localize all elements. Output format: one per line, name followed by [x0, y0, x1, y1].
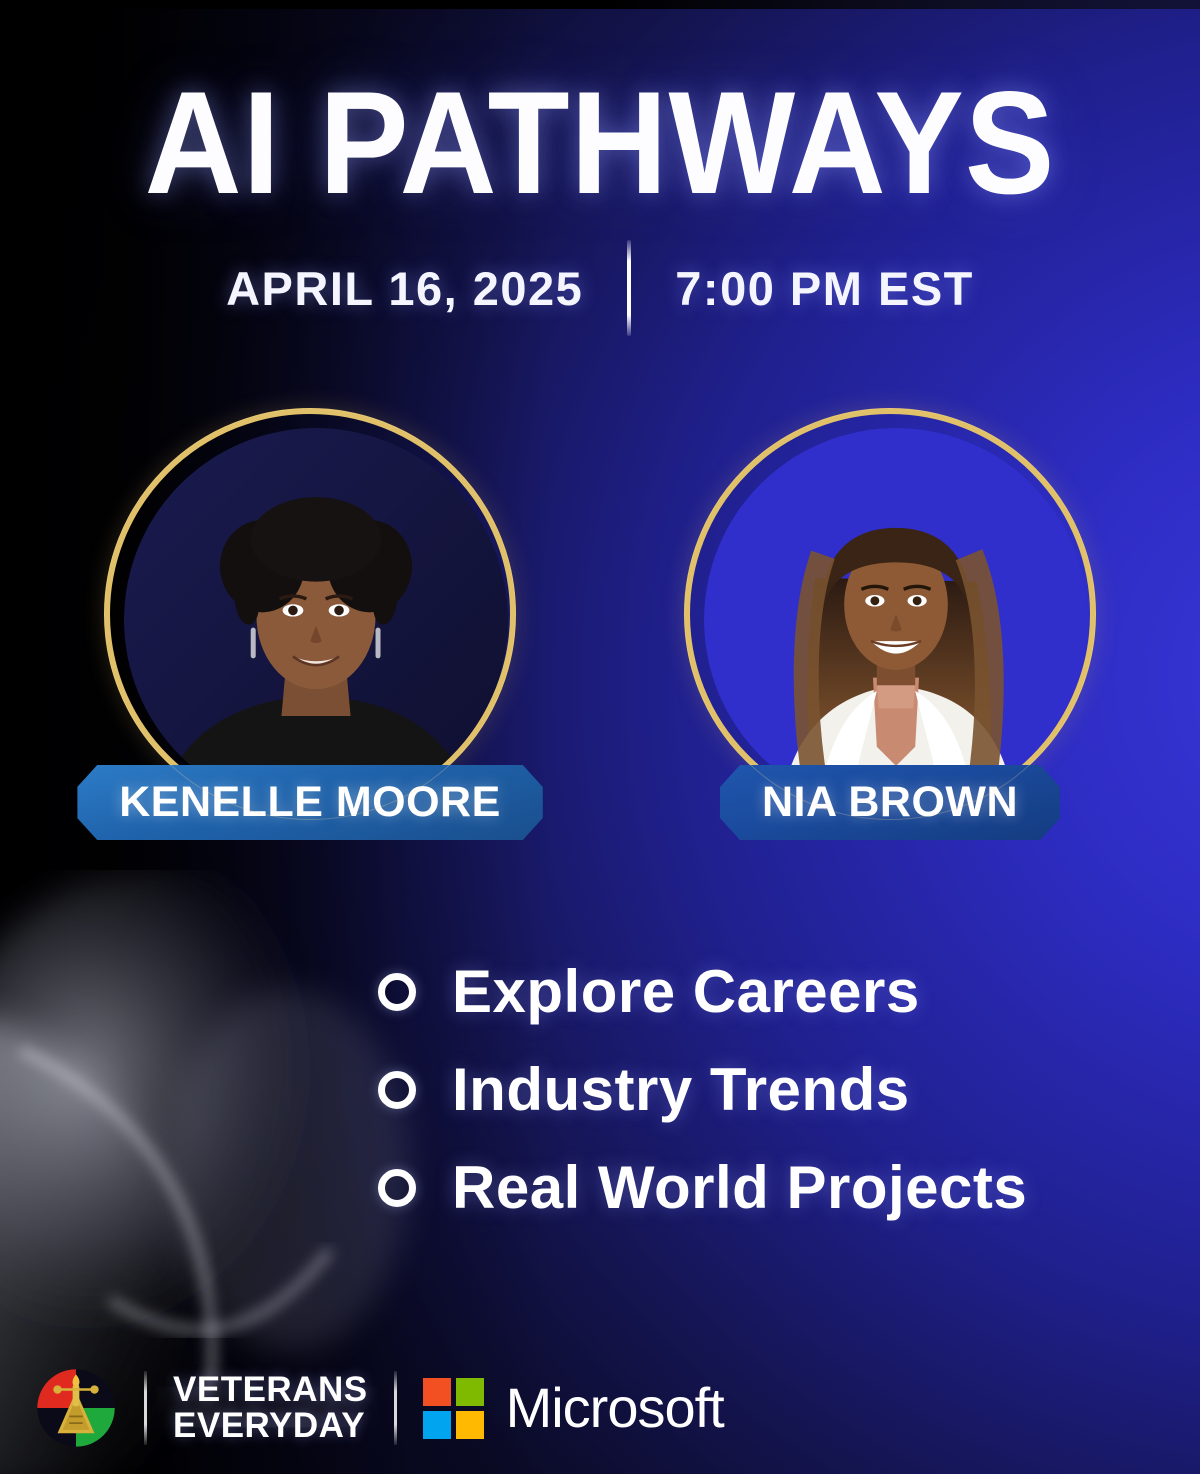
event-date: APRIL 16, 2025 — [226, 261, 627, 316]
speaker-name: NIA BROWN — [762, 778, 1018, 826]
poster-header: AI PATHWAYS APRIL 16, 2025 7:00 PM EST — [0, 0, 1200, 336]
event-meta: APRIL 16, 2025 7:00 PM EST — [0, 240, 1200, 336]
microsoft-logo-icon — [423, 1378, 484, 1439]
veterans-everyday-emblem-icon — [34, 1366, 118, 1450]
ms-square-bottom-left — [423, 1411, 451, 1439]
ms-square-top-left — [423, 1378, 451, 1406]
ring-bullet-icon — [378, 1071, 416, 1109]
speaker-list: KENELLE MOORE — [0, 408, 1200, 820]
speaker-photo-ring: KENELLE MOORE — [104, 408, 516, 820]
feature-list: Explore Careers Industry Trends Real Wor… — [378, 962, 1027, 1218]
ring-bullet-icon — [378, 1169, 416, 1207]
feature-label: Industry Trends — [452, 1060, 910, 1120]
footer-logos: VETERANS EVERYDAY Microsoft — [34, 1366, 724, 1450]
org-name-line-2: EVERYDAY — [173, 1408, 368, 1444]
avatar — [124, 428, 508, 812]
avatar — [704, 428, 1088, 812]
speaker-name-badge: NIA BROWN — [720, 765, 1060, 840]
footer-divider — [394, 1371, 397, 1445]
speaker-name: KENELLE MOORE — [119, 778, 501, 826]
ms-square-top-right — [456, 1378, 484, 1406]
speaker-card: KENELLE MOORE — [104, 408, 516, 820]
ring-bullet-icon — [378, 973, 416, 1011]
list-item: Real World Projects — [378, 1158, 1027, 1218]
event-flyer: AI PATHWAYS APRIL 16, 2025 7:00 PM EST — [0, 0, 1200, 1474]
list-item: Industry Trends — [378, 1060, 1027, 1120]
org-name-line-1: VETERANS — [173, 1372, 368, 1408]
page-title: AI PATHWAYS — [48, 70, 1152, 216]
event-time: 7:00 PM EST — [631, 261, 974, 316]
partner-name: Microsoft — [506, 1380, 724, 1436]
speaker-photo-ring: NIA BROWN — [684, 408, 1096, 820]
ms-square-bottom-right — [456, 1411, 484, 1439]
feature-label: Real World Projects — [452, 1158, 1027, 1218]
footer-divider — [144, 1371, 147, 1445]
organization-name: VETERANS EVERYDAY — [173, 1372, 368, 1443]
list-item: Explore Careers — [378, 962, 1027, 1022]
speaker-card: NIA BROWN — [684, 408, 1096, 820]
speaker-name-badge: KENELLE MOORE — [77, 765, 543, 840]
feature-label: Explore Careers — [452, 962, 920, 1022]
